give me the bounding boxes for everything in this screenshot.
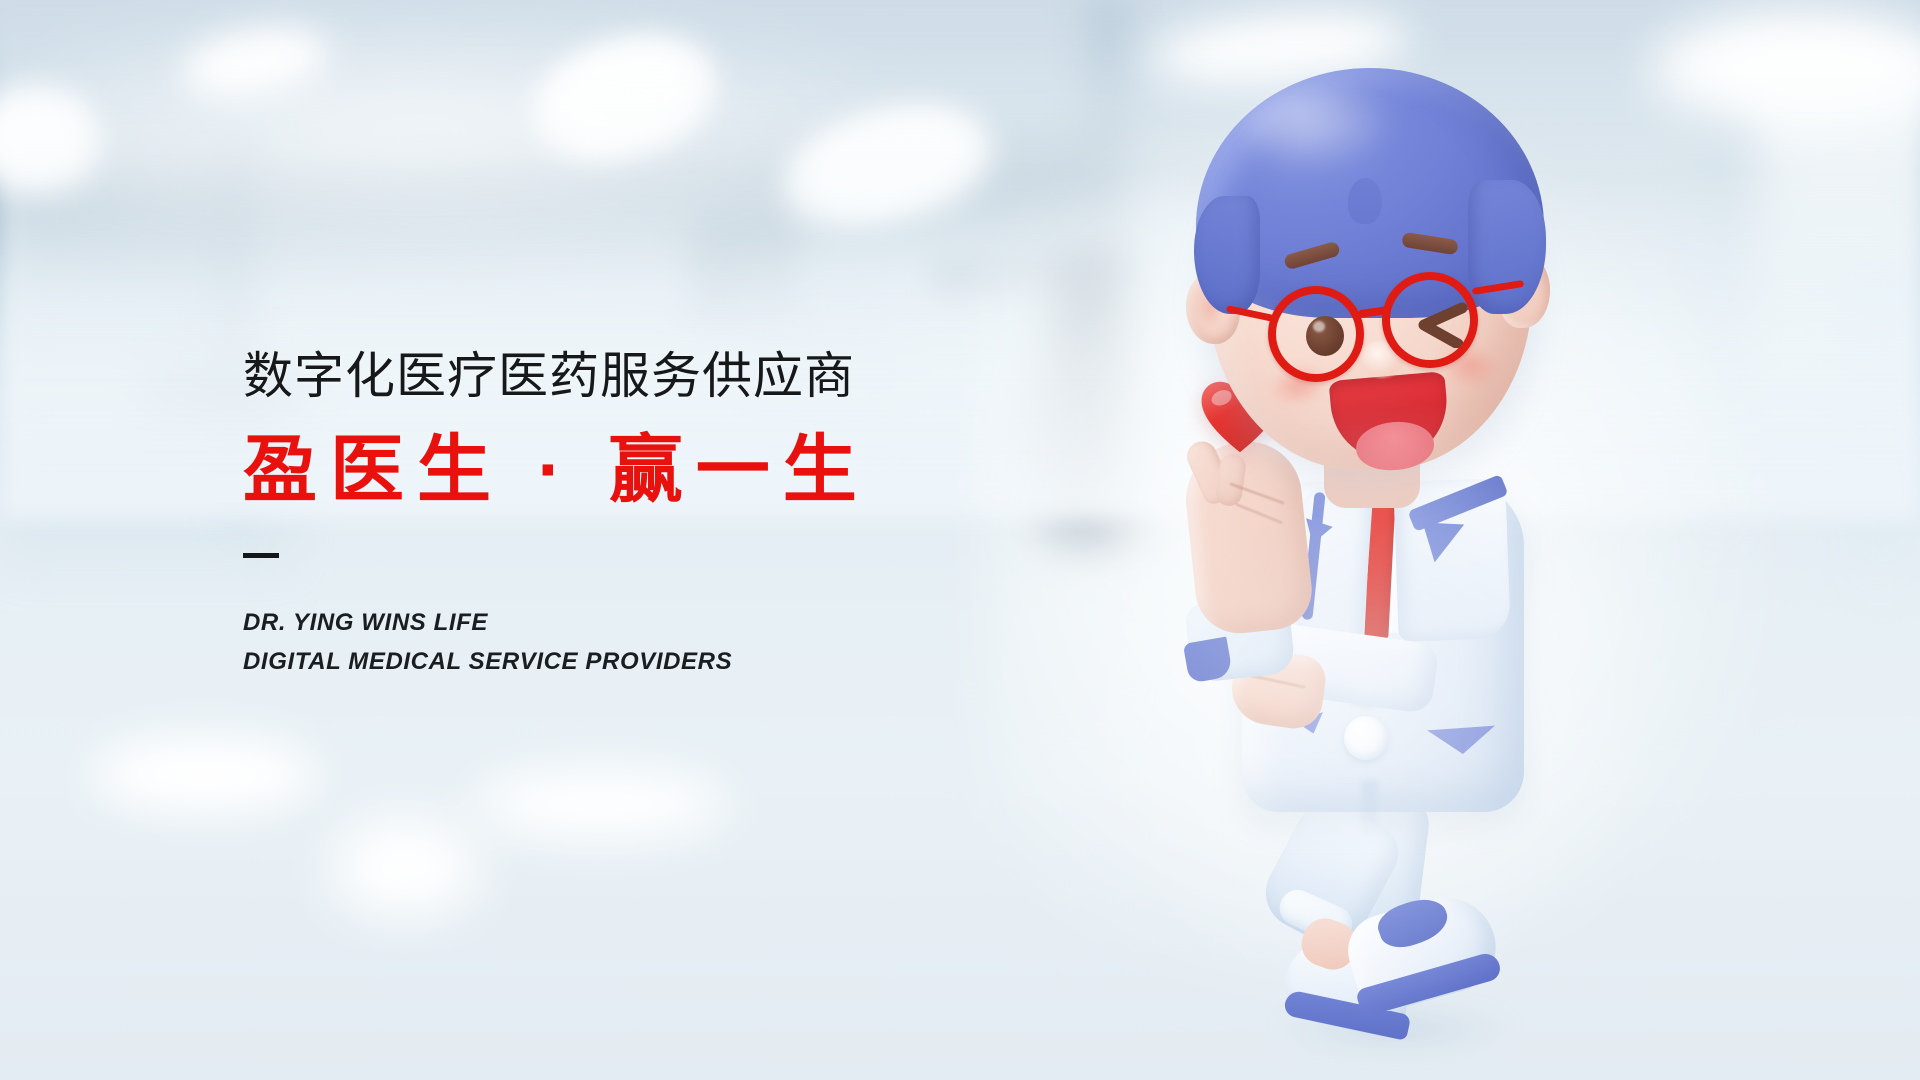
subtitle-line-2: DIGITAL MEDICAL SERVICE PROVIDERS: [243, 643, 1143, 682]
ceiling-light-icon: [175, 17, 334, 108]
floor-reflection-icon: [470, 770, 730, 840]
doctor-mascot: [1150, 40, 1630, 1050]
bg-floor-reflection: [60, 0, 960, 260]
coat-hem-split: [1362, 780, 1378, 838]
hair-highlight: [1246, 88, 1396, 172]
bg-column-right: [1700, 40, 1740, 560]
bg-window-right: [1760, 60, 1920, 360]
glasses-lens-right: [1382, 272, 1478, 368]
slogan-text: 盈医生 · 赢一生: [243, 432, 1143, 507]
headline-text: 数字化医疗医药服务供应商: [243, 348, 1143, 404]
hero-copy-block: 数字化医疗医药服务供应商 盈医生 · 赢一生 DR. YING WINS LIF…: [243, 348, 1143, 682]
bg-ceiling-beam: [0, 136, 1120, 259]
bg-ceiling-beam-soft: [0, 211, 1060, 291]
coat-button-bottom: [1344, 716, 1388, 760]
hero-banner: 数字化医疗医药服务供应商 盈医生 · 赢一生 DR. YING WINS LIF…: [0, 0, 1920, 1080]
hair-fringe-tip: [1347, 177, 1383, 224]
bg-equipment-2: [929, 247, 1121, 297]
bg-wall-left: [0, 190, 250, 490]
ceiling-light-icon: [1650, 10, 1920, 130]
divider-rule: [243, 553, 279, 558]
subtitle-line-1: DR. YING WINS LIFE: [243, 604, 1143, 643]
ceiling-light-icon: [0, 85, 102, 195]
floor-reflection-icon: [90, 736, 320, 814]
coat-pocket-trim: [1427, 726, 1497, 757]
bg-equipment-4: [1840, 270, 1920, 610]
bg-equipment-1: [690, 215, 800, 335]
floor-reflection-icon: [330, 818, 480, 918]
subtitle-block: DR. YING WINS LIFE DIGITAL MEDICAL SERVI…: [243, 604, 1143, 682]
ceiling-light-icon: [769, 84, 1006, 249]
ceiling-light-icon: [517, 14, 733, 182]
glasses-lens-left: [1268, 286, 1364, 382]
